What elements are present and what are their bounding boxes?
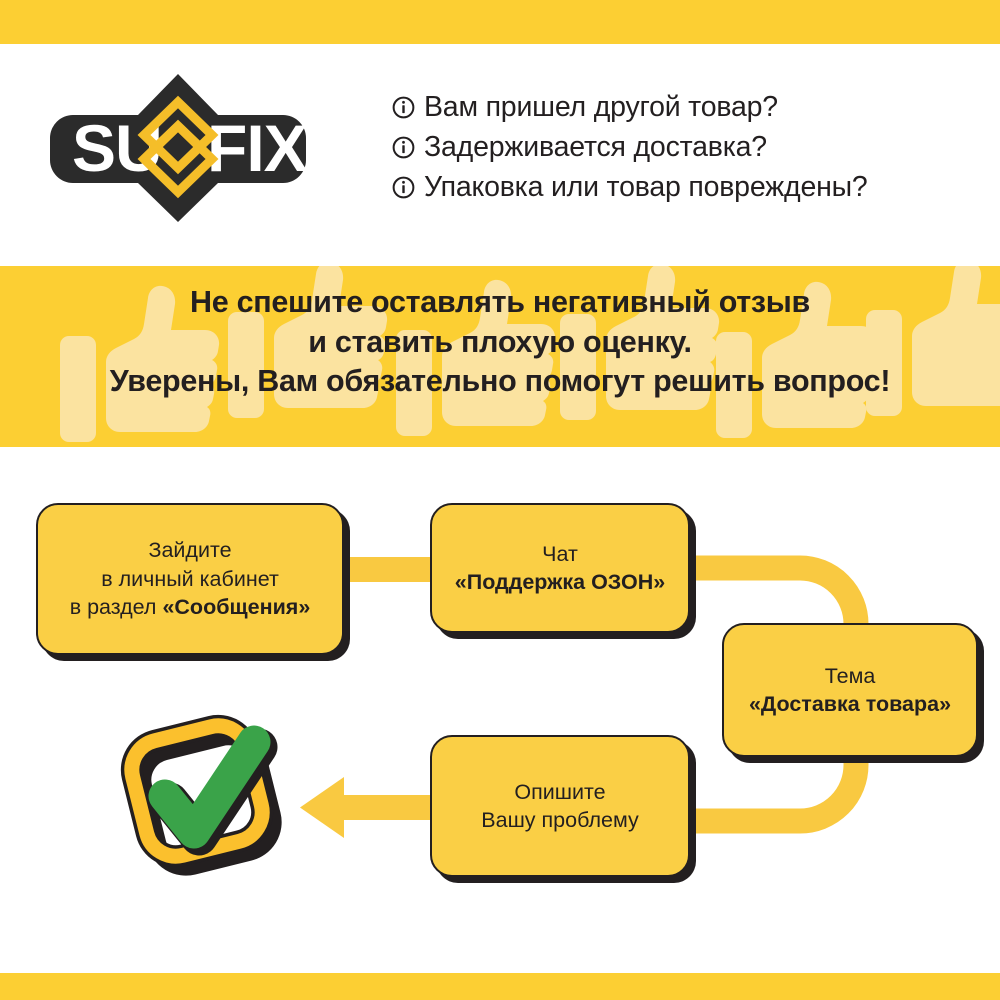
top-accent-bar bbox=[0, 0, 1000, 44]
info-circle-icon bbox=[392, 96, 415, 119]
svg-text:SU: SU bbox=[72, 111, 162, 185]
header-section: SU FIX Вам пришел другой т bbox=[0, 44, 1000, 266]
step-line-3: в раздел «Сообщения» bbox=[70, 593, 311, 621]
question-item: Вам пришел другой товар? bbox=[392, 92, 972, 123]
step-line-2: «Доставка товара» bbox=[749, 690, 951, 718]
bottom-accent-bar bbox=[0, 973, 1000, 1000]
step-line-2: Вашу проблему bbox=[481, 806, 638, 834]
instruction-flowchart: Зайдите в личный кабинет в раздел «Сообщ… bbox=[0, 447, 1000, 973]
step-chat-support[interactable]: Чат «Поддержка ОЗОН» bbox=[430, 503, 690, 633]
info-circle-icon bbox=[392, 176, 415, 199]
advice-banner: Не спешите оставлять негативный отзыв и … bbox=[0, 266, 1000, 447]
banner-line-3: Уверены, Вам обязательно помогут решить … bbox=[0, 362, 1000, 402]
question-text: Упаковка или товар повреждены? bbox=[424, 172, 868, 203]
step-line-3-bold: «Сообщения» bbox=[162, 595, 310, 619]
question-item: Задерживается доставка? bbox=[392, 132, 972, 163]
step-line-2: в личный кабинет bbox=[101, 565, 279, 593]
left-arrow-icon bbox=[300, 777, 440, 838]
connector-account-to-chat bbox=[336, 557, 440, 582]
step-open-personal-account[interactable]: Зайдите в личный кабинет в раздел «Сообщ… bbox=[36, 503, 344, 655]
brand-logo: SU FIX bbox=[44, 68, 312, 228]
question-text: Задерживается доставка? bbox=[424, 132, 767, 163]
step-line-2: «Поддержка ОЗОН» bbox=[455, 568, 665, 596]
info-circle-icon bbox=[392, 136, 415, 159]
step-line-1: Чат bbox=[542, 540, 578, 568]
question-item: Упаковка или товар повреждены? bbox=[392, 172, 972, 203]
svg-text:FIX: FIX bbox=[207, 111, 308, 185]
step-topic[interactable]: Тема «Доставка товара» bbox=[722, 623, 978, 757]
advice-banner-text: Не спешите оставлять негативный отзыв и … bbox=[0, 283, 1000, 402]
banner-line-2: и ставить плохую оценку. bbox=[0, 323, 1000, 363]
green-check-badge-icon bbox=[108, 710, 294, 890]
step-line-1: Тема bbox=[825, 662, 876, 690]
step-describe-problem[interactable]: Опишите Вашу проблему bbox=[430, 735, 690, 877]
step-line-1: Опишите bbox=[514, 778, 605, 806]
issue-question-list: Вам пришел другой товар? Задерживается д… bbox=[392, 92, 972, 211]
question-text: Вам пришел другой товар? bbox=[424, 92, 778, 123]
step-line-1: Зайдите bbox=[148, 536, 231, 564]
step-line-3-plain: в раздел bbox=[70, 595, 163, 619]
banner-line-1: Не спешите оставлять негативный отзыв bbox=[0, 283, 1000, 323]
